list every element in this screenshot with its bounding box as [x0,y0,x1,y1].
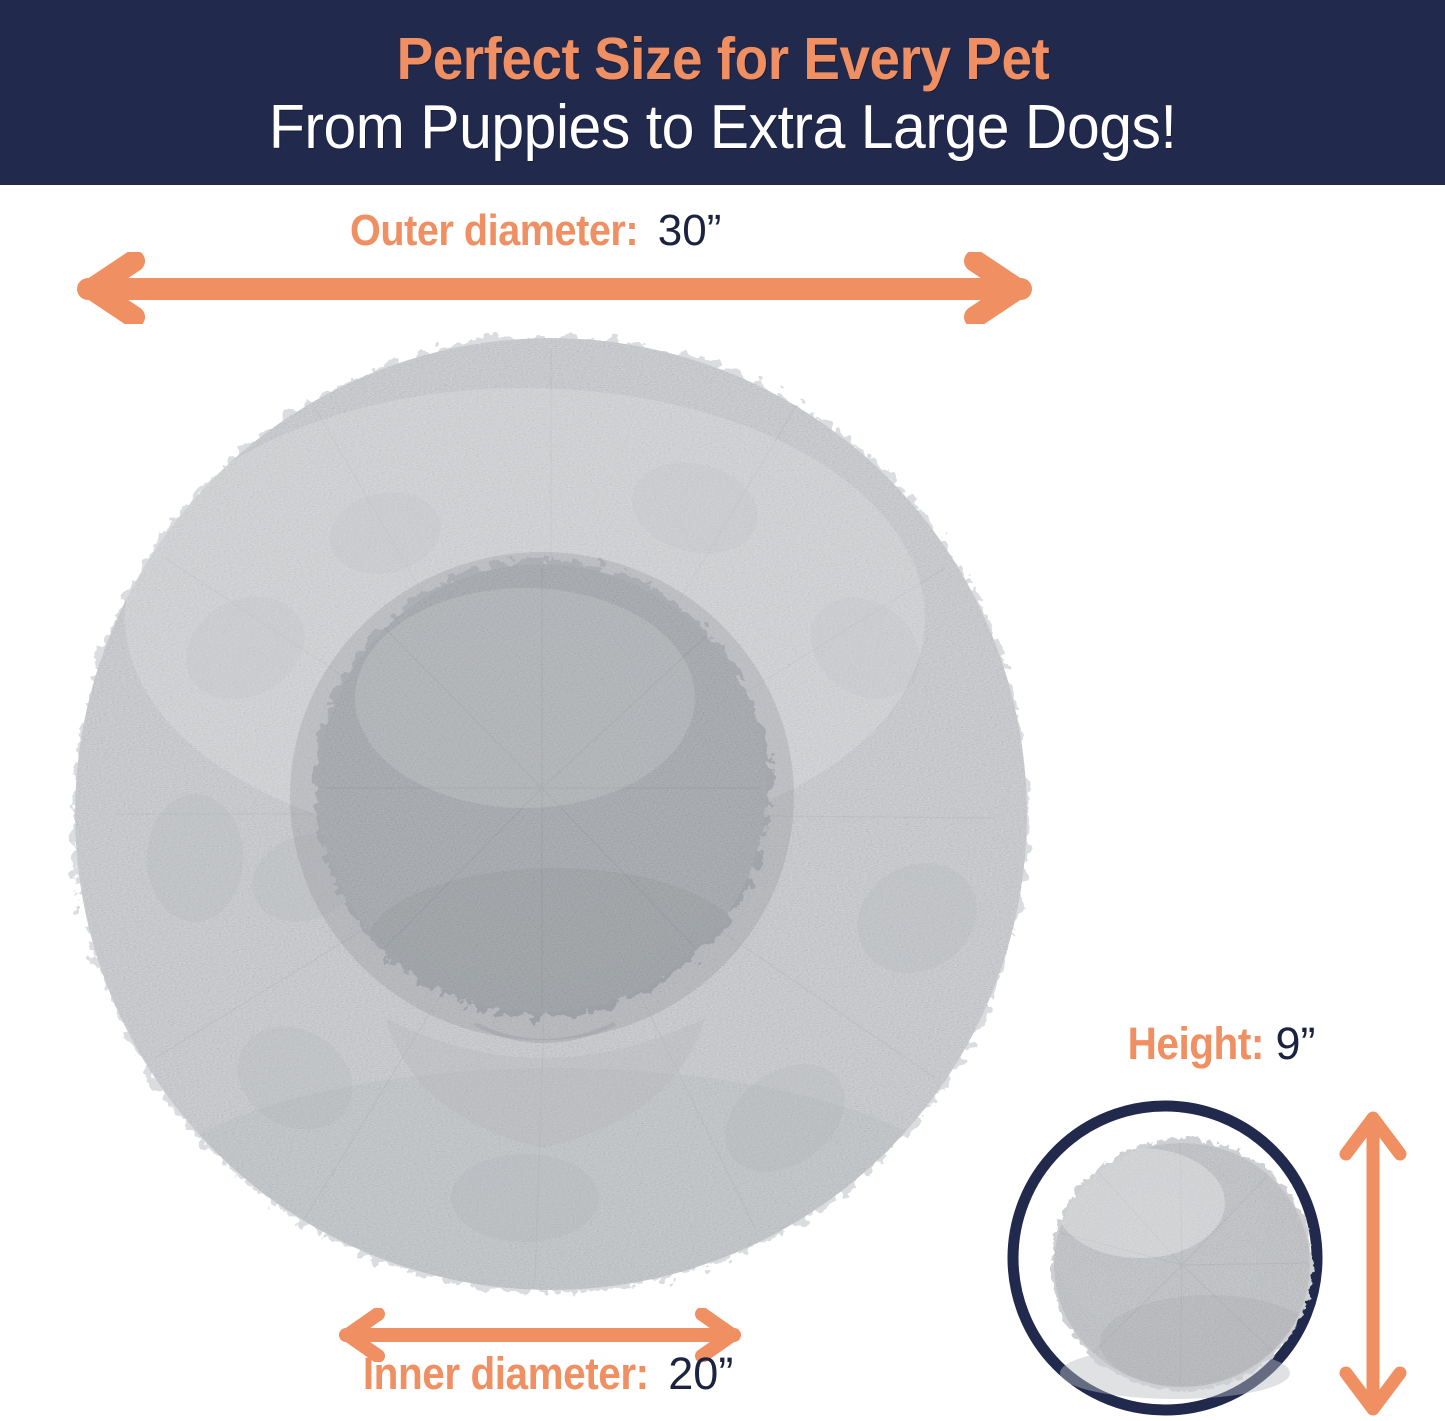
outer-diameter-label-text: Outer diameter: [350,206,638,256]
inner-diameter-label: Inner diameter:20” [240,1348,840,1400]
outer-diameter-label: Outer diameter:30” [0,206,1055,256]
page-title: Perfect Size for Every Pet [396,29,1049,89]
page-subtitle: From Puppies to Extra Large Dogs! [269,95,1177,160]
pet-bed-top-view [55,318,1047,1310]
pet-bed-side-view [1000,1093,1330,1421]
height-label: Height:9” [1120,1018,1430,1070]
inner-diameter-value: 20” [668,1348,733,1400]
inner-diameter-label-text: Inner diameter: [363,1348,649,1400]
height-label-text: Height: [1128,1018,1264,1070]
double-arrow-vertical-icon [1328,1106,1418,1421]
double-arrow-horizontal-icon-outer [62,252,1047,324]
infographic-page: Perfect Size for Every Pet From Puppies … [0,0,1445,1421]
height-value: 9” [1275,1018,1315,1070]
outer-diameter-value: 30” [658,206,722,256]
header-banner: Perfect Size for Every Pet From Puppies … [0,0,1445,185]
